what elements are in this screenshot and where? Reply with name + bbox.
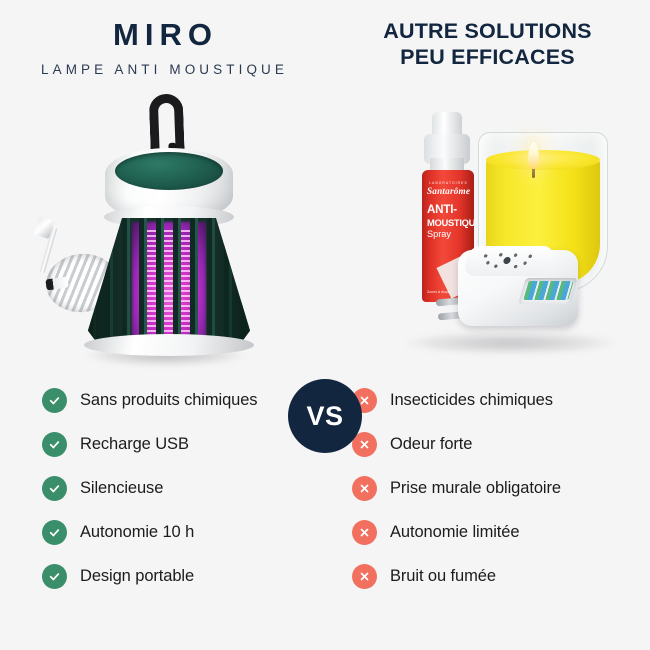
list-item-label: Bruit ou fumée [390,567,496,586]
cross-icon [352,476,377,501]
cone-shade-right [206,218,250,346]
header-left: MIRO LAMPE ANTI MOUSTIQUE [0,0,325,92]
cross-icon [352,520,377,545]
spray-label-line2: MOUSTIQUES [427,217,470,228]
brand-title: MIRO [107,18,218,53]
list-item-label: Odeur forte [390,435,472,454]
alt-title-line2: PEU EFFICACES [400,45,575,69]
list-item: Odeur forte [352,422,650,466]
alt-title: AUTRE SOLUTIONS PEU EFFICACES [383,18,591,71]
alt-title-line1: AUTRE SOLUTIONS [383,19,591,43]
alternative-products-image: LABORATOIRES Santarôme ANTI- MOUSTIQUES … [392,100,632,370]
spray-label-line3: Spray [427,229,470,239]
miro-lamp-image [58,94,278,372]
spray-label-laboratories: LABORATOIRES [427,181,470,185]
comparison-infographic: MIRO LAMPE ANTI MOUSTIQUE AUTRE SOLUTION… [0,0,650,650]
brand-subtitle: LAMPE ANTI MOUSTIQUE [37,62,288,77]
lamp-green-top-disc [115,152,223,190]
list-item: Bruit ou fumée [352,554,650,598]
vs-badge: VS [288,379,362,453]
list-item-label: Autonomie limitée [390,523,519,542]
list-item: Autonomie limitée [352,510,650,554]
diffuser-vents-icon [474,251,540,270]
list-item: Insecticides chimiques [352,378,650,422]
list-item-label: Prise murale obligatoire [390,479,561,498]
cross-icon [352,564,377,589]
candle-wax-surface [486,150,600,170]
spray-label-brand: Santarôme [427,186,470,196]
lamp-base-ring [84,334,254,356]
plug-in-diffuser [436,240,586,344]
spray-label: LABORATOIRES Santarôme ANTI- MOUSTIQUES … [422,170,474,239]
product-stage: LABORATOIRES Santarôme ANTI- MOUSTIQUES … [0,92,650,372]
vs-badge-label: VS [306,401,343,432]
list-item-label: Insecticides chimiques [390,391,553,410]
spray-label-line1: ANTI- [427,203,470,216]
list-item: Prise murale obligatoire [352,466,650,510]
headers: MIRO LAMPE ANTI MOUSTIQUE AUTRE SOLUTION… [0,0,650,92]
diffuser-refill-tablets [523,281,573,300]
header-right: AUTRE SOLUTIONS PEU EFFICACES [325,0,650,92]
